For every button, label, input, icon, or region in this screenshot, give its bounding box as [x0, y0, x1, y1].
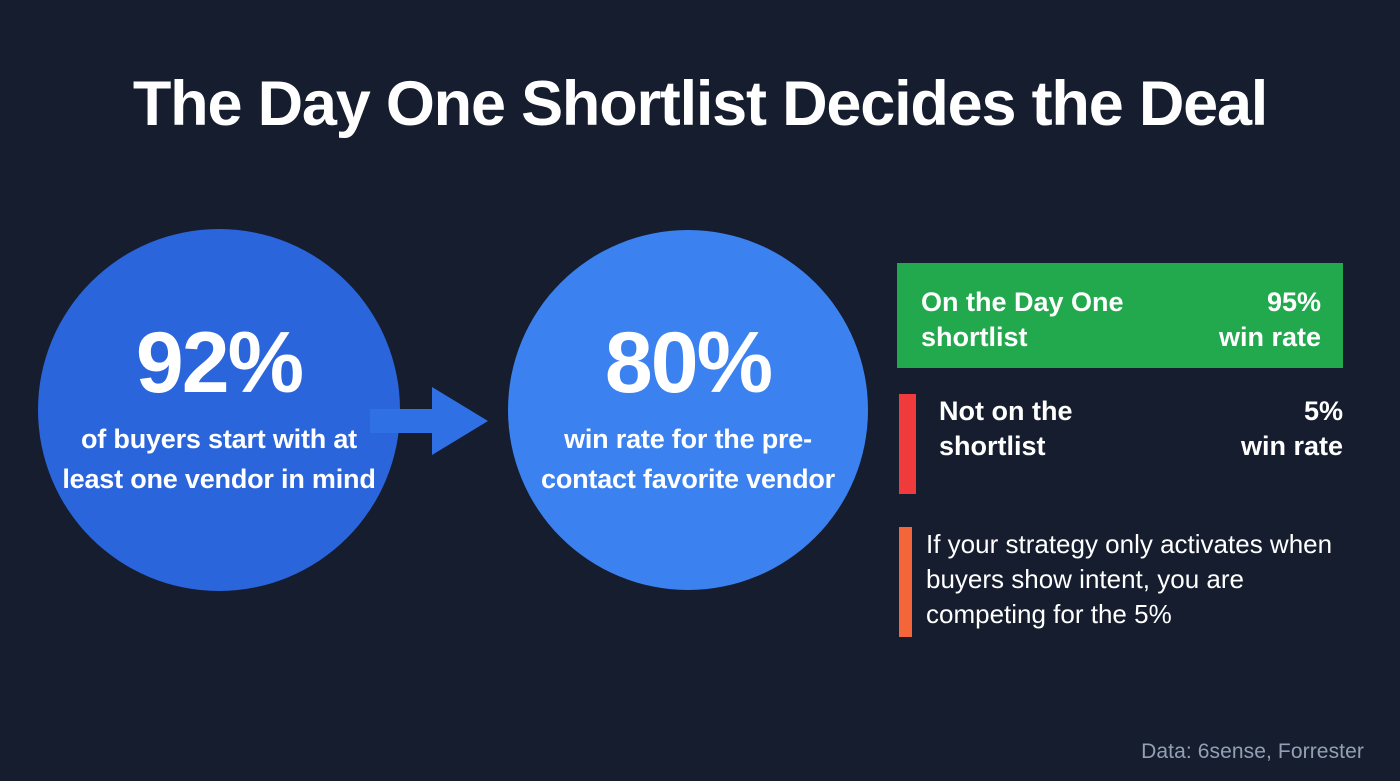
- arrow-right-icon: [370, 385, 490, 457]
- stat-circle-caption: win rate for the pre-contact favorite ve…: [508, 420, 868, 499]
- infographic-canvas: The Day One Shortlist Decides the Deal 9…: [0, 0, 1400, 781]
- source-attribution: Data: 6sense, Forrester: [1141, 740, 1364, 764]
- stat-circle-value: 92%: [136, 320, 302, 406]
- accent-bar-orange: [899, 527, 912, 637]
- stat-circle-caption: of buyers start with at least one vendor…: [38, 420, 400, 499]
- page-title: The Day One Shortlist Decides the Deal: [0, 72, 1400, 136]
- comparison-row-on-shortlist: On the Day One shortlist 95% win rate: [897, 263, 1343, 368]
- comparison-panel: On the Day One shortlist 95% win rate No…: [897, 263, 1343, 637]
- comparison-row-value: 95% win rate: [1219, 285, 1321, 355]
- insight-note: If your strategy only activates when buy…: [897, 527, 1357, 637]
- stat-circle-buyers-start: 92% of buyers start with at least one ve…: [38, 229, 400, 591]
- comparison-row-value: 5% win rate: [1241, 394, 1343, 464]
- stat-circle-value: 80%: [605, 320, 771, 406]
- insight-note-text: If your strategy only activates when buy…: [926, 527, 1357, 631]
- comparison-row-label: Not on the shortlist: [939, 394, 1072, 464]
- stat-circle-win-rate: 80% win rate for the pre-contact favorit…: [508, 230, 868, 590]
- comparison-row-label: On the Day One shortlist: [921, 285, 1124, 355]
- comparison-row-not-on-shortlist: Not on the shortlist 5% win rate: [897, 394, 1343, 494]
- accent-bar-red: [899, 394, 916, 494]
